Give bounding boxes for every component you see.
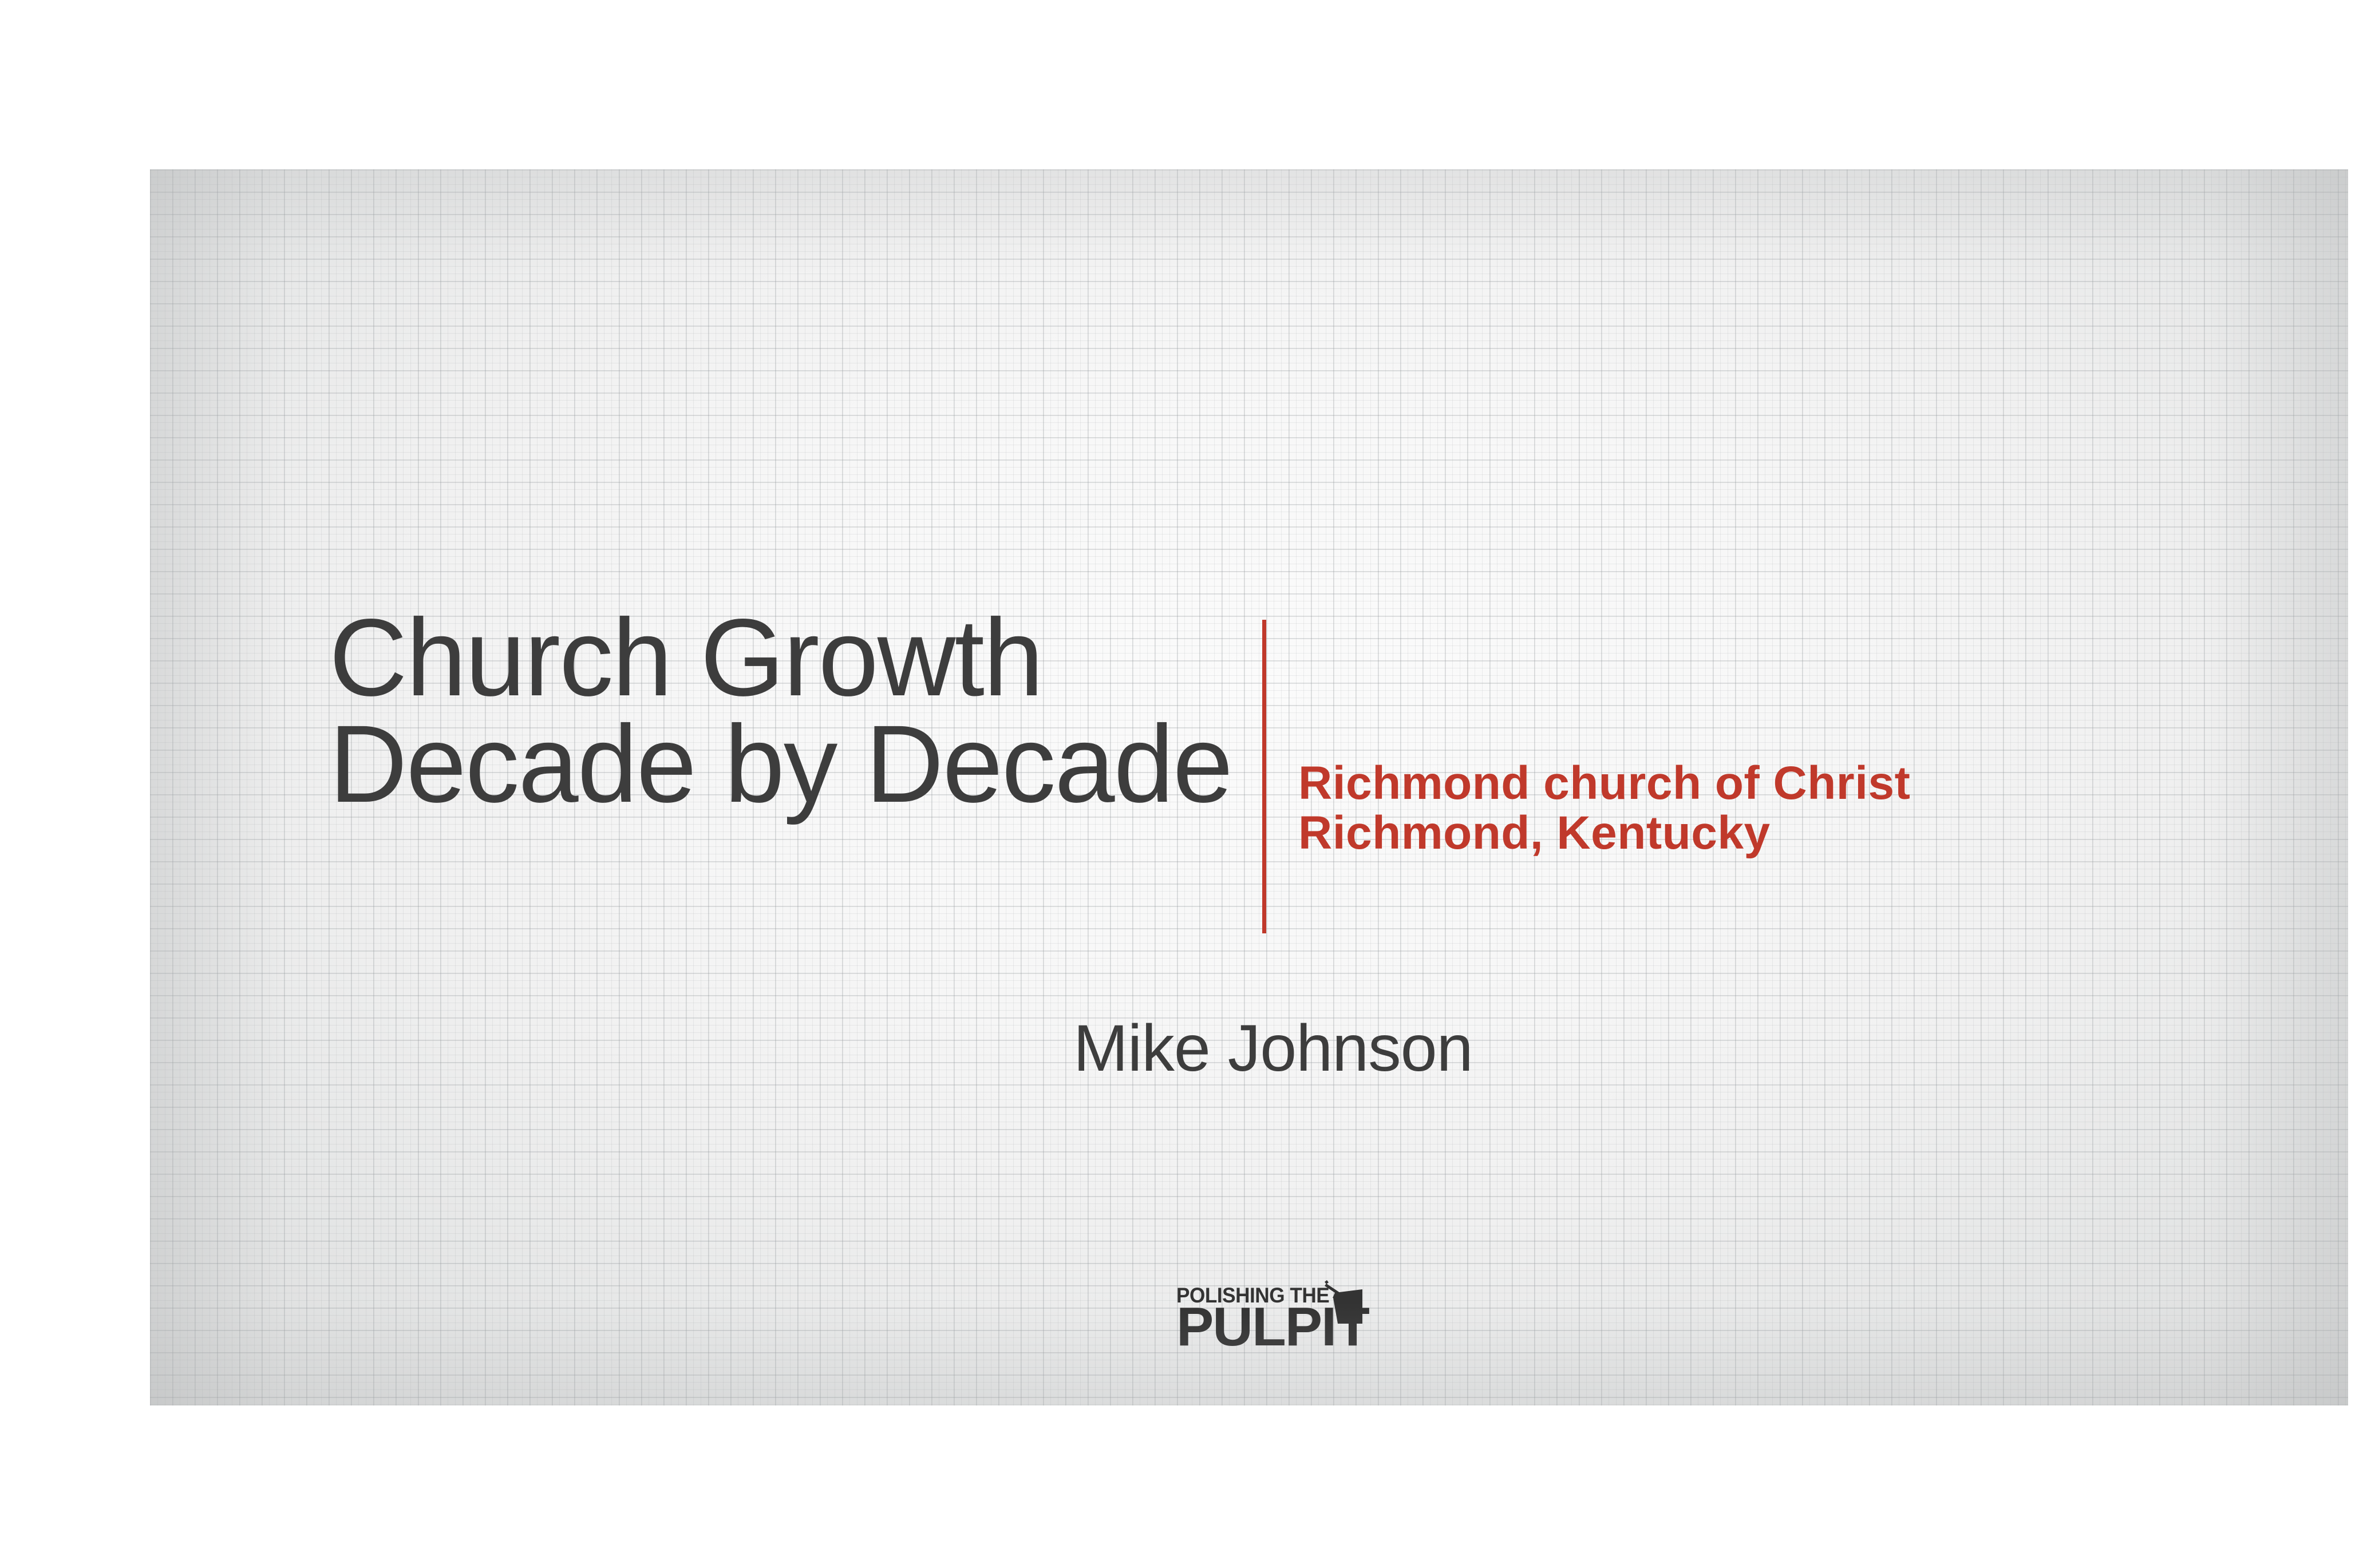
subtitle: Richmond church of Christ Richmond, Kent… (1298, 759, 2042, 858)
presenter-name: Mike Johnson (1073, 1011, 1473, 1086)
title-line-1: Church Growth (329, 604, 1254, 711)
title-line-2: Decade by Decade (329, 711, 1254, 817)
pulpit-lectern-microphone-icon (1310, 1279, 1362, 1327)
polishing-the-pulpit-logo: POLISHING THE PULPIT (1176, 1285, 1360, 1352)
vertical-divider-rule (1262, 620, 1266, 933)
presentation-slide: Church Growth Decade by Decade Richmond … (150, 169, 2348, 1405)
subtitle-line-location: Richmond, Kentucky (1298, 809, 2042, 858)
page-title: Church Growth Decade by Decade (329, 604, 1268, 817)
subtitle-line-congregation: Richmond church of Christ (1298, 759, 2042, 809)
